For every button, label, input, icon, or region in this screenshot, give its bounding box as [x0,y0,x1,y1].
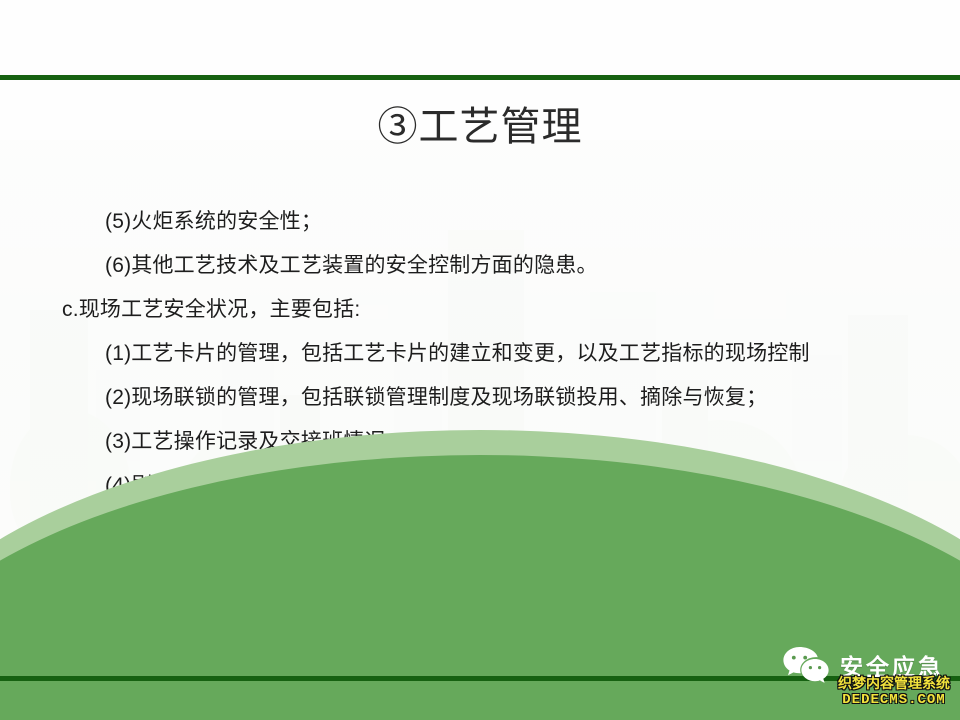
body-line-2: (2)现场联锁的管理，包括联锁管理制度及现场联锁投用、摘除与恢复； [0,376,960,420]
dedecms-watermark: 织梦内容管理系统 DEDECMS.COM [838,676,950,707]
body-line-5: (5)火炬系统的安全性； [0,200,960,244]
body-line-c: c.现场工艺安全状况，主要包括: [0,288,960,332]
slide-canvas: ③工艺管理 (5)火炬系统的安全性； (6)其他工艺技术及工艺装置的安全控制方面… [0,0,960,720]
page-title: ③工艺管理 [0,103,960,151]
watermark-en-text: DEDECMS.COM [838,693,950,708]
body-line-1: (1)工艺卡片的管理，包括工艺卡片的建立和变更，以及工艺指标的现场控制 [0,332,960,376]
top-divider-rule [0,75,960,80]
wechat-icon [782,645,830,685]
body-line-6: (6)其他工艺技术及工艺装置的安全控制方面的隐患。 [0,244,960,288]
watermark-cn-text: 织梦内容管理系统 [838,676,950,691]
